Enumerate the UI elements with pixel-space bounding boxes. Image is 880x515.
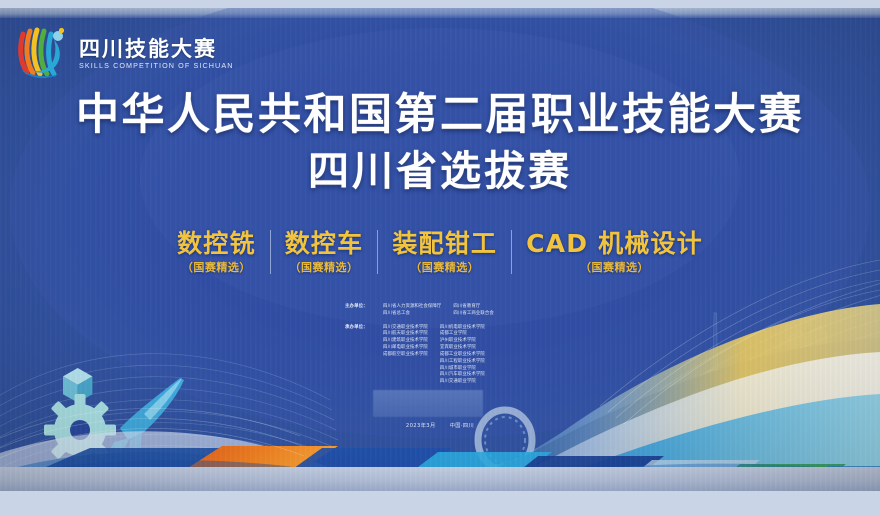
headline-line-1: 中华人民共和国第二届职业技能大赛 (0, 90, 880, 141)
headline-line-2: 四川省选拔赛 (0, 147, 880, 195)
credit-entry: 成都航空职业技术学院 (383, 352, 428, 359)
credit-entry: 四川省教育厅 (453, 304, 493, 311)
banner-screenshot: 四川技能大赛 SKILLS COMPETITION OF SICHUAN 中华人… (0, 0, 880, 515)
credit-entry: 成都工业职业技术学院 (440, 352, 485, 359)
credit-entry: 四川省总工会 (383, 311, 441, 318)
event-name: 数控车 (285, 230, 364, 259)
credit-entry: 四川工程职业技术学院 (440, 359, 485, 366)
event-subtitle: （国赛精选） (580, 262, 649, 274)
credit-entry: 四川邮电职业技术学院 (383, 345, 428, 352)
credit-entry: 四川交通职业学院 (440, 379, 485, 386)
credit-entry: 四川省工商业联合会 (453, 311, 493, 318)
credit-group-host: 主办单位： 四川省人力资源和社会保障厅 四川省总工会 四川省教育厅 四川省工商业… (345, 304, 575, 318)
event-location: 中国·四川 (450, 423, 474, 429)
date-location-line: 2023年3月 中国·四川 (0, 422, 880, 429)
board-bottom-edge (0, 467, 880, 491)
credit-column-right: 四川省教育厅 四川省工商业联合会 (453, 304, 493, 318)
event-name: 数控铣 (177, 230, 256, 259)
event-item-3: CAD 机械设计 （国赛精选） (511, 230, 717, 274)
event-item-2: 装配钳工 （国赛精选） (377, 230, 511, 274)
credit-column-right: 四川机电职业技术学院 成都工业学院 泸州职业技术学院 宜宾职业技术学院 成都工业… (440, 325, 485, 386)
organizer-credits: 主办单位： 四川省人力资源和社会保障厅 四川省总工会 四川省教育厅 四川省工商业… (345, 304, 575, 393)
event-subtitle: （国赛精选） (290, 262, 359, 274)
event-list: 数控铣 （国赛精选） 数控车 （国赛精选） 装配钳工 （国赛精选） CAD 机械… (0, 230, 880, 274)
event-subtitle: （国赛精选） (182, 262, 251, 274)
event-subtitle: （国赛精选） (410, 262, 479, 274)
credit-entry: 宜宾职业技术学院 (440, 345, 485, 352)
credit-column-left: 四川交通职业技术学院 四川航天职业技术学院 四川建筑职业技术学院 四川邮电职业技… (383, 325, 428, 386)
competition-logo: 四川技能大赛 SKILLS COMPETITION OF SICHUAN (14, 20, 234, 82)
event-date: 2023年3月 (406, 423, 436, 429)
event-item-1: 数控车 （国赛精选） (270, 230, 378, 274)
credit-column-left: 四川省人力资源和社会保障厅 四川省总工会 (383, 304, 441, 318)
redacted-plate (373, 390, 483, 417)
credit-label: 承办单位： (345, 325, 383, 332)
event-name: CAD 机械设计 (526, 230, 703, 259)
credit-group-coorganizer: 承办单位： 四川交通职业技术学院 四川航天职业技术学院 四川建筑职业技术学院 四… (345, 325, 575, 386)
logo-chinese-text: 四川技能大赛 (79, 39, 234, 60)
sichuan-skills-flame-logo-icon (14, 20, 72, 82)
credit-entry: 四川省人力资源和社会保障厅 (383, 304, 441, 311)
banner-headline: 中华人民共和国第二届职业技能大赛 四川省选拔赛 (0, 90, 880, 195)
credit-label: 主办单位： (345, 304, 383, 311)
event-item-0: 数控铣 （国赛精选） (163, 230, 270, 274)
stage-backdrop-board: 四川技能大赛 SKILLS COMPETITION OF SICHUAN 中华人… (0, 8, 880, 491)
logo-english-text: SKILLS COMPETITION OF SICHUAN (79, 62, 234, 69)
event-name: 装配钳工 (392, 230, 497, 259)
